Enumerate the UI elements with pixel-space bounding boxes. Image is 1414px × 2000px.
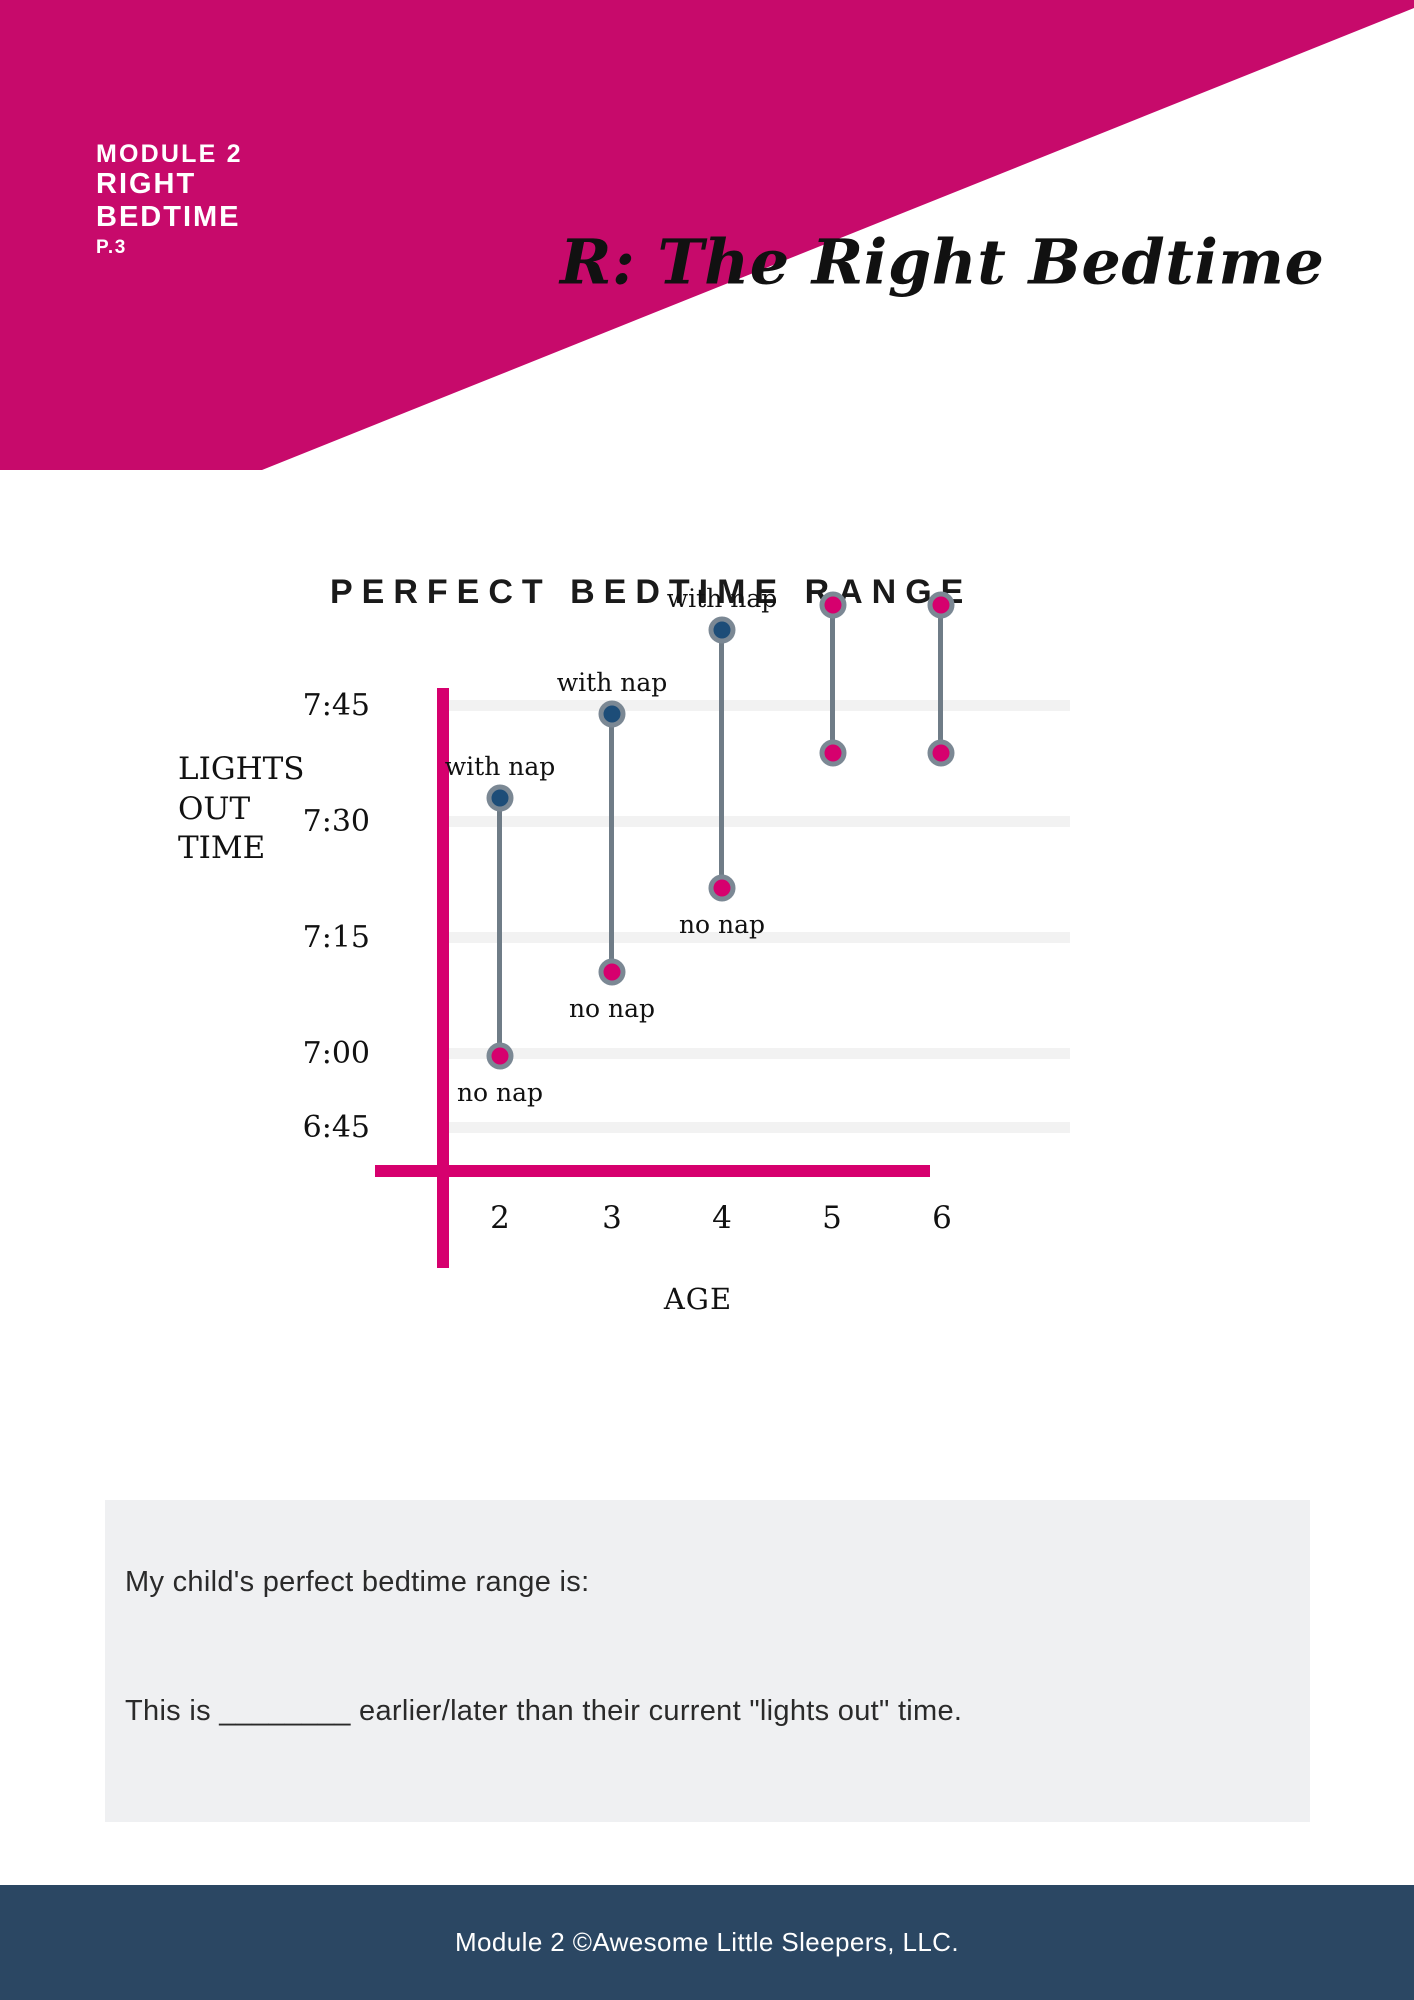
y-tick-645: 6:45 (260, 1110, 370, 1145)
module-number: MODULE 2 (96, 140, 243, 168)
dot-age5-no-nap (820, 740, 847, 767)
note-line-comparison: This is ________ earlier/later than thei… (125, 1695, 962, 1728)
footer-copyright: Module 2 ©Awesome Little Sleepers, LLC. (455, 1927, 959, 1958)
x-tick-age-3: 3 (582, 1200, 642, 1236)
module-word-bedtime: BEDTIME (96, 201, 243, 234)
y-axis-title: LIGHTS OUT TIME (178, 750, 308, 869)
stem-age3 (609, 712, 614, 970)
reflection-note-box: My child's perfect bedtime range is: Thi… (105, 1500, 1310, 1822)
x-tick-age-4: 4 (692, 1200, 752, 1236)
dot-age3-no-nap (599, 959, 626, 986)
page-title: R: The Right Bedtime (560, 226, 1324, 299)
gridline-730 (444, 816, 1070, 827)
dot-age2-with-nap (487, 785, 514, 812)
x-axis-line (375, 1165, 930, 1177)
note-line-perfect-range: My child's perfect bedtime range is: (125, 1566, 589, 1599)
page-footer: Module 2 ©Awesome Little Sleepers, LLC. (0, 1885, 1414, 2000)
dot-age4-no-nap (709, 875, 736, 902)
page-number-label: P.3 (96, 237, 243, 258)
dot-age3-with-nap (599, 701, 626, 728)
dot-age4-with-nap (709, 617, 736, 644)
y-tick-715: 7:15 (260, 920, 370, 955)
x-axis-title: AGE (638, 1282, 758, 1316)
y-axis-title-line-1: LIGHTS (178, 750, 308, 790)
point-label-age2-top: with nap (420, 752, 580, 781)
x-tick-age-6: 6 (912, 1200, 972, 1236)
module-word-right: RIGHT (96, 168, 243, 201)
gridline-700 (444, 1048, 1070, 1059)
point-label-age2-bottom: no nap (420, 1078, 580, 1107)
stem-age5 (830, 604, 835, 754)
point-label-age4-bottom: no nap (642, 910, 802, 939)
dot-age2-no-nap (487, 1043, 514, 1070)
y-axis-title-line-2: OUT (178, 790, 308, 830)
dot-age6-with-nap (928, 592, 955, 619)
point-label-age4-top: with nap (642, 584, 802, 613)
worksheet-page: MODULE 2 RIGHT BEDTIME P.3 R: The Right … (0, 0, 1414, 2000)
dot-age6-no-nap (928, 740, 955, 767)
point-label-age3-bottom: no nap (532, 994, 692, 1023)
dot-age5-with-nap (820, 592, 847, 619)
x-tick-age-2: 2 (470, 1200, 530, 1236)
stem-age4 (719, 628, 724, 886)
point-label-age3-top: with nap (532, 668, 692, 697)
y-tick-700: 7:00 (260, 1036, 370, 1071)
x-tick-age-5: 5 (802, 1200, 862, 1236)
stem-age6 (938, 604, 943, 754)
bedtime-range-chart: 7:45 7:30 7:15 7:00 6:45 LIGHTS OUT TIME… (220, 670, 1120, 1400)
y-axis-title-line-3: TIME (178, 829, 308, 869)
gridline-745 (444, 700, 1070, 711)
y-tick-745: 7:45 (260, 688, 370, 723)
gridline-645 (444, 1122, 1070, 1133)
stem-age2 (497, 796, 502, 1054)
module-label-block: MODULE 2 RIGHT BEDTIME P.3 (96, 140, 243, 258)
